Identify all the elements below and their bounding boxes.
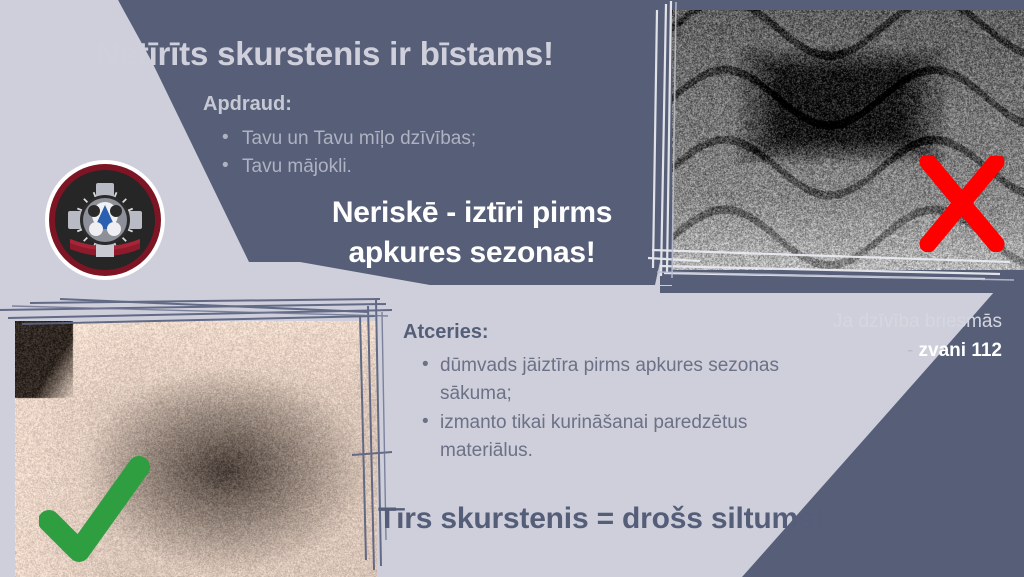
emergency-line2: - zvani 112 (752, 337, 1002, 366)
cta-primary: Neriskē - iztīri pirms apkures sezonas! (272, 193, 672, 273)
cta-primary-line2: apkures sezonas! (272, 233, 672, 273)
fire-rescue-emblem-icon (44, 159, 166, 281)
threat-list: Tavu un Tavu mīļo dzīvības; Tavu mājokli… (218, 125, 660, 181)
page-title: Netīrīts skurstenis ir bīstams! (96, 36, 656, 72)
cta-secondary: Tīrs skurstenis = drošs siltums! (378, 502, 958, 536)
list-item: izmanto tikai kurināšanai paredzētus mat… (440, 409, 840, 464)
emergency-line1: Ja dzīvība briesmās (752, 308, 1002, 337)
emergency-dash: - (907, 340, 913, 361)
emergency-notice: Ja dzīvība briesmās - zvani 112 (752, 308, 1002, 365)
list-item: Tavu un Tavu mīļo dzīvības; (240, 125, 660, 153)
infographic-poster: Netīrīts skurstenis ir bīstams! Apdraud:… (0, 0, 1024, 577)
emergency-number: zvani 112 (919, 340, 1002, 361)
list-item: Tavu mājokli. (240, 153, 660, 181)
sketch-frame-clean (0, 0, 1024, 577)
cta-primary-line1: Neriskē - iztīri pirms (272, 193, 672, 233)
remember-list: dūmvads jāiztīra pirms apkures sezonas s… (418, 352, 840, 466)
remember-heading: Atceries: (403, 321, 489, 344)
threat-heading: Apdraud: (203, 93, 292, 116)
